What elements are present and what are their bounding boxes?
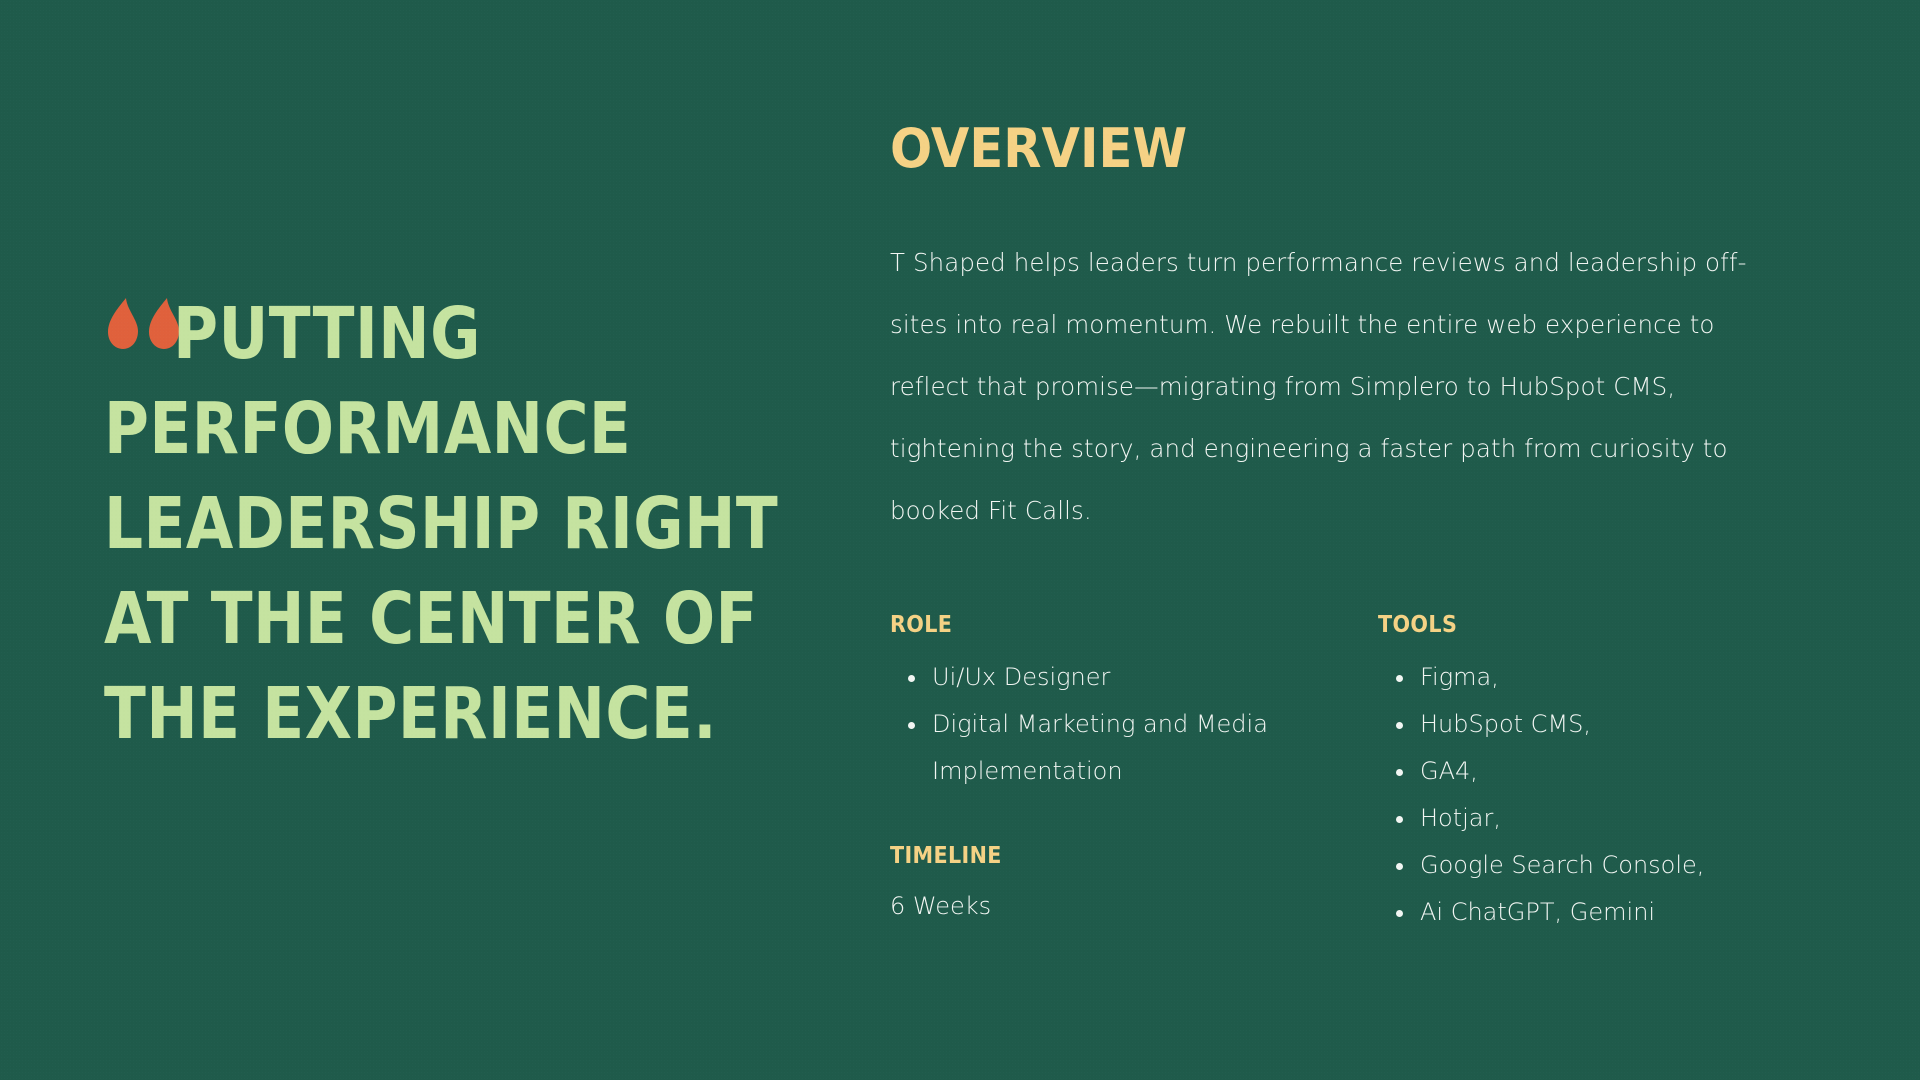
slide-canvas: Putting Performance Leadership Right At … (0, 0, 1920, 1080)
quote-line-4: At The Center Of (104, 571, 834, 666)
role-list: Ui/Ux Designer Digital Marketing and Med… (890, 654, 1320, 795)
list-item: GA4, (1378, 748, 1798, 795)
list-item: Hotjar, (1378, 795, 1798, 842)
quote-line-2: Performance (104, 381, 834, 476)
quote-panel: Putting Performance Leadership Right At … (0, 0, 890, 1080)
tools-heading: Tools (1378, 612, 1756, 638)
list-item: Ai ChatGPT, Gemini (1378, 889, 1798, 936)
list-item: Google Search Console, (1378, 842, 1798, 889)
quote-line-5: The Experience. (104, 666, 834, 761)
timeline-block: Timeline 6 Weeks (890, 843, 1320, 927)
quote-headline: Putting Performance Leadership Right At … (104, 286, 834, 761)
list-item: HubSpot CMS, (1378, 701, 1798, 748)
timeline-value: 6 Weeks (890, 885, 1320, 927)
pull-quote: Putting Performance Leadership Right At … (104, 286, 864, 761)
quote-line-1: Putting (104, 286, 834, 381)
list-item: Ui/Ux Designer (890, 654, 1320, 701)
overview-title: Overview (890, 120, 1187, 178)
tools-list: Figma, HubSpot CMS, GA4, Hotjar, Google … (1378, 654, 1798, 936)
list-item: Figma, (1378, 654, 1798, 701)
list-item: Digital Marketing and Media Implementati… (890, 701, 1320, 795)
meta-column-role: Role Ui/Ux Designer Digital Marketing an… (890, 612, 1320, 927)
quote-line-3: Leadership Right (104, 476, 834, 571)
role-heading: Role (890, 612, 1277, 638)
overview-body-text: T Shaped helps leaders turn performance … (890, 232, 1795, 542)
timeline-heading: Timeline (890, 843, 1277, 869)
overview-panel: Overview T Shaped helps leaders turn per… (890, 0, 1920, 1080)
meta-column-tools: Tools Figma, HubSpot CMS, GA4, Hotjar, G… (1378, 612, 1798, 936)
